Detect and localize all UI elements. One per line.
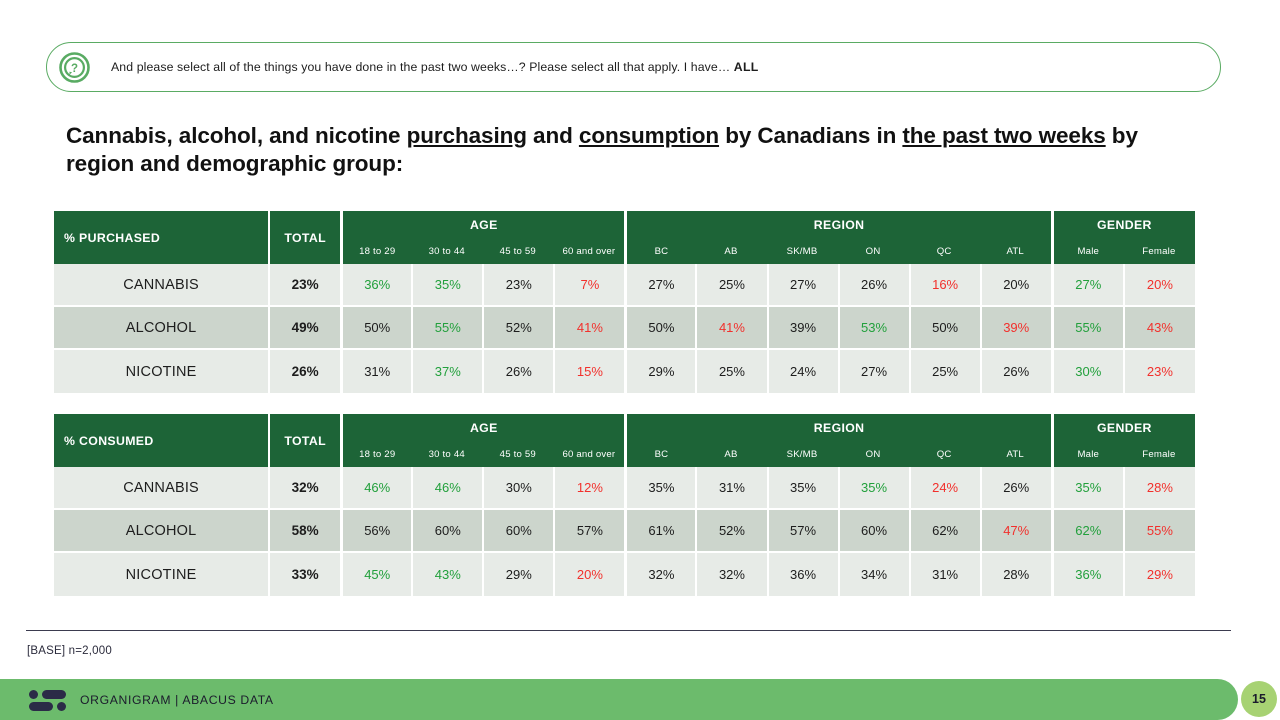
table-cell: 36% bbox=[340, 264, 411, 307]
table-cell: 25% bbox=[909, 350, 980, 393]
table-cell: 36% bbox=[767, 553, 838, 596]
row-label: ALCOHOL bbox=[54, 510, 268, 553]
group-header-age: AGE bbox=[340, 414, 624, 441]
table-cell: 39% bbox=[980, 307, 1051, 350]
table-cell: 26% bbox=[980, 350, 1051, 393]
table-cell: 23% bbox=[268, 264, 340, 307]
table-cell: 62% bbox=[909, 510, 980, 553]
table-cell: 35% bbox=[411, 264, 482, 307]
table-row: CANNABIS32%46%46%30%12%35%31%35%35%24%26… bbox=[54, 467, 1195, 510]
column-header-age-60-over: 60 and over bbox=[553, 441, 624, 467]
table-cell: 52% bbox=[695, 510, 766, 553]
corner-label: % CONSUMED bbox=[54, 414, 268, 467]
column-header-region-atl: ATL bbox=[980, 441, 1051, 467]
column-header-gender-female: Female bbox=[1123, 238, 1195, 264]
table-cell: 27% bbox=[838, 350, 909, 393]
table-row: NICOTINE26%31%37%26%15%29%25%24%27%25%26… bbox=[54, 350, 1195, 393]
table-cell: 31% bbox=[695, 467, 766, 510]
column-header-region-on: ON bbox=[838, 238, 909, 264]
table-cell: 24% bbox=[767, 350, 838, 393]
footer-divider bbox=[26, 630, 1231, 631]
table-cell: 36% bbox=[1051, 553, 1123, 596]
table-cell: 27% bbox=[767, 264, 838, 307]
table-cell: 20% bbox=[1123, 264, 1195, 307]
table-cell: 28% bbox=[980, 553, 1051, 596]
row-label: CANNABIS bbox=[54, 264, 268, 307]
question-text-emphasis: ALL bbox=[734, 60, 759, 74]
table-cell: 46% bbox=[340, 467, 411, 510]
table-cell: 20% bbox=[553, 553, 624, 596]
column-header-total: TOTAL bbox=[268, 414, 340, 467]
column-header-total: TOTAL bbox=[268, 211, 340, 264]
table-cell: 60% bbox=[838, 510, 909, 553]
title-part-3: by Canadians in bbox=[719, 123, 902, 148]
row-label: ALCOHOL bbox=[54, 307, 268, 350]
corner-label: % PURCHASED bbox=[54, 211, 268, 264]
table-cell: 55% bbox=[411, 307, 482, 350]
table-cell: 46% bbox=[411, 467, 482, 510]
table-cell: 26% bbox=[980, 467, 1051, 510]
column-header-age-30-44: 30 to 44 bbox=[411, 238, 482, 264]
table-cell: 29% bbox=[482, 553, 553, 596]
table-cell: 23% bbox=[482, 264, 553, 307]
group-header-age: AGE bbox=[340, 211, 624, 238]
header-row-groups: % CONSUMED TOTAL AGE REGION GENDER bbox=[54, 414, 1195, 441]
column-header-age-45-59: 45 to 59 bbox=[482, 441, 553, 467]
table-cell: 24% bbox=[909, 467, 980, 510]
page-number-badge: 15 bbox=[1241, 681, 1277, 717]
column-header-region-ab: AB bbox=[695, 238, 766, 264]
table-cell: 29% bbox=[624, 350, 695, 393]
table-cell: 50% bbox=[624, 307, 695, 350]
table-cell: 35% bbox=[767, 467, 838, 510]
question-text: And please select all of the things you … bbox=[111, 60, 759, 74]
table-cell: 32% bbox=[695, 553, 766, 596]
table-cell: 60% bbox=[482, 510, 553, 553]
table-cell: 26% bbox=[268, 350, 340, 393]
group-header-gender: GENDER bbox=[1051, 414, 1195, 441]
title-underline-purchasing: purchasing bbox=[407, 123, 527, 148]
table-cell: 57% bbox=[767, 510, 838, 553]
table-cell: 31% bbox=[909, 553, 980, 596]
table-row: ALCOHOL58%56%60%60%57%61%52%57%60%62%47%… bbox=[54, 510, 1195, 553]
column-header-region-on: ON bbox=[838, 441, 909, 467]
table-cell: 57% bbox=[553, 510, 624, 553]
title-part-1: Cannabis, alcohol, and nicotine bbox=[66, 123, 407, 148]
svg-text:?: ? bbox=[71, 63, 78, 75]
table-cell: 32% bbox=[624, 553, 695, 596]
table-cell: 41% bbox=[695, 307, 766, 350]
table-cell: 30% bbox=[1051, 350, 1123, 393]
table-cell: 50% bbox=[909, 307, 980, 350]
table-cell: 35% bbox=[1051, 467, 1123, 510]
table-cell: 55% bbox=[1051, 307, 1123, 350]
table-cell: 41% bbox=[553, 307, 624, 350]
table-cell: 62% bbox=[1051, 510, 1123, 553]
header-row-groups: % PURCHASED TOTAL AGE REGION GENDER bbox=[54, 211, 1195, 238]
page-title: Cannabis, alcohol, and nicotine purchasi… bbox=[66, 122, 1211, 178]
column-header-gender-female: Female bbox=[1123, 441, 1195, 467]
table-row: ALCOHOL49%50%55%52%41%50%41%39%53%50%39%… bbox=[54, 307, 1195, 350]
table-cell: 53% bbox=[838, 307, 909, 350]
table-cell: 56% bbox=[340, 510, 411, 553]
table-cell: 50% bbox=[340, 307, 411, 350]
title-underline-past-two-weeks: the past two weeks bbox=[902, 123, 1105, 148]
base-note: [BASE] n=2,000 bbox=[27, 645, 112, 657]
column-header-region-bc: BC bbox=[624, 238, 695, 264]
table-cell: 52% bbox=[482, 307, 553, 350]
column-header-region-bc: BC bbox=[624, 441, 695, 467]
column-header-region-skmb: SK/MB bbox=[767, 441, 838, 467]
column-header-gender-male: Male bbox=[1051, 441, 1123, 467]
table-cell: 58% bbox=[268, 510, 340, 553]
question-speech-bubble-icon: ? bbox=[59, 52, 90, 83]
title-underline-consumption: consumption bbox=[579, 123, 719, 148]
column-header-region-qc: QC bbox=[909, 238, 980, 264]
table-cell: 28% bbox=[1123, 467, 1195, 510]
table-cell: 33% bbox=[268, 553, 340, 596]
table-cell: 25% bbox=[695, 264, 766, 307]
table-cell: 47% bbox=[980, 510, 1051, 553]
table-header: % CONSUMED TOTAL AGE REGION GENDER 18 to… bbox=[54, 414, 1195, 467]
table-cell: 15% bbox=[553, 350, 624, 393]
table-cell: 29% bbox=[1123, 553, 1195, 596]
table-cell: 30% bbox=[482, 467, 553, 510]
column-header-age-18-29: 18 to 29 bbox=[340, 441, 411, 467]
row-label: NICOTINE bbox=[54, 350, 268, 393]
column-header-region-qc: QC bbox=[909, 441, 980, 467]
table-cell: 31% bbox=[340, 350, 411, 393]
table-cell: 25% bbox=[695, 350, 766, 393]
table-cell: 12% bbox=[553, 467, 624, 510]
column-header-age-18-29: 18 to 29 bbox=[340, 238, 411, 264]
table-cell: 26% bbox=[482, 350, 553, 393]
row-label: NICOTINE bbox=[54, 553, 268, 596]
group-header-region: REGION bbox=[624, 414, 1050, 441]
table-cell: 27% bbox=[1051, 264, 1123, 307]
table-cell: 39% bbox=[767, 307, 838, 350]
table-cell: 43% bbox=[411, 553, 482, 596]
table-cell: 7% bbox=[553, 264, 624, 307]
table-cell: 60% bbox=[411, 510, 482, 553]
table-body: CANNABIS32%46%46%30%12%35%31%35%35%24%26… bbox=[54, 467, 1195, 596]
column-header-age-45-59: 45 to 59 bbox=[482, 238, 553, 264]
column-header-region-skmb: SK/MB bbox=[767, 238, 838, 264]
column-header-region-atl: ATL bbox=[980, 238, 1051, 264]
group-header-region: REGION bbox=[624, 211, 1050, 238]
table-body: CANNABIS23%36%35%23%7%27%25%27%26%16%20%… bbox=[54, 264, 1195, 393]
question-text-main: And please select all of the things you … bbox=[111, 60, 730, 74]
group-header-gender: GENDER bbox=[1051, 211, 1195, 238]
row-label: CANNABIS bbox=[54, 467, 268, 510]
table-cell: 26% bbox=[838, 264, 909, 307]
slide: ? And please select all of the things yo… bbox=[0, 0, 1280, 720]
table-cell: 43% bbox=[1123, 307, 1195, 350]
table-header: % PURCHASED TOTAL AGE REGION GENDER 18 t… bbox=[54, 211, 1195, 264]
table-cell: 20% bbox=[980, 264, 1051, 307]
table-cell: 61% bbox=[624, 510, 695, 553]
table-cell: 34% bbox=[838, 553, 909, 596]
table-cell: 35% bbox=[624, 467, 695, 510]
table-cell: 27% bbox=[624, 264, 695, 307]
column-header-age-60-over: 60 and over bbox=[553, 238, 624, 264]
column-header-gender-male: Male bbox=[1051, 238, 1123, 264]
table-cell: 32% bbox=[268, 467, 340, 510]
table-cell: 23% bbox=[1123, 350, 1195, 393]
table-row: CANNABIS23%36%35%23%7%27%25%27%26%16%20%… bbox=[54, 264, 1195, 307]
table-cell: 49% bbox=[268, 307, 340, 350]
table-cell: 37% bbox=[411, 350, 482, 393]
column-header-age-30-44: 30 to 44 bbox=[411, 441, 482, 467]
title-part-2: and bbox=[527, 123, 579, 148]
column-header-region-ab: AB bbox=[695, 441, 766, 467]
table-consumed: % CONSUMED TOTAL AGE REGION GENDER 18 to… bbox=[54, 414, 1195, 596]
organigram-logo-icon bbox=[29, 689, 67, 711]
table-row: NICOTINE33%45%43%29%20%32%32%36%34%31%28… bbox=[54, 553, 1195, 596]
brand-label: ORGANIGRAM | ABACUS DATA bbox=[80, 693, 274, 707]
table-cell: 45% bbox=[340, 553, 411, 596]
table-purchased: % PURCHASED TOTAL AGE REGION GENDER 18 t… bbox=[54, 211, 1195, 393]
footer-bar: ORGANIGRAM | ABACUS DATA bbox=[0, 679, 1238, 720]
table-cell: 35% bbox=[838, 467, 909, 510]
question-banner: ? And please select all of the things yo… bbox=[46, 42, 1221, 92]
table-cell: 16% bbox=[909, 264, 980, 307]
table-cell: 55% bbox=[1123, 510, 1195, 553]
